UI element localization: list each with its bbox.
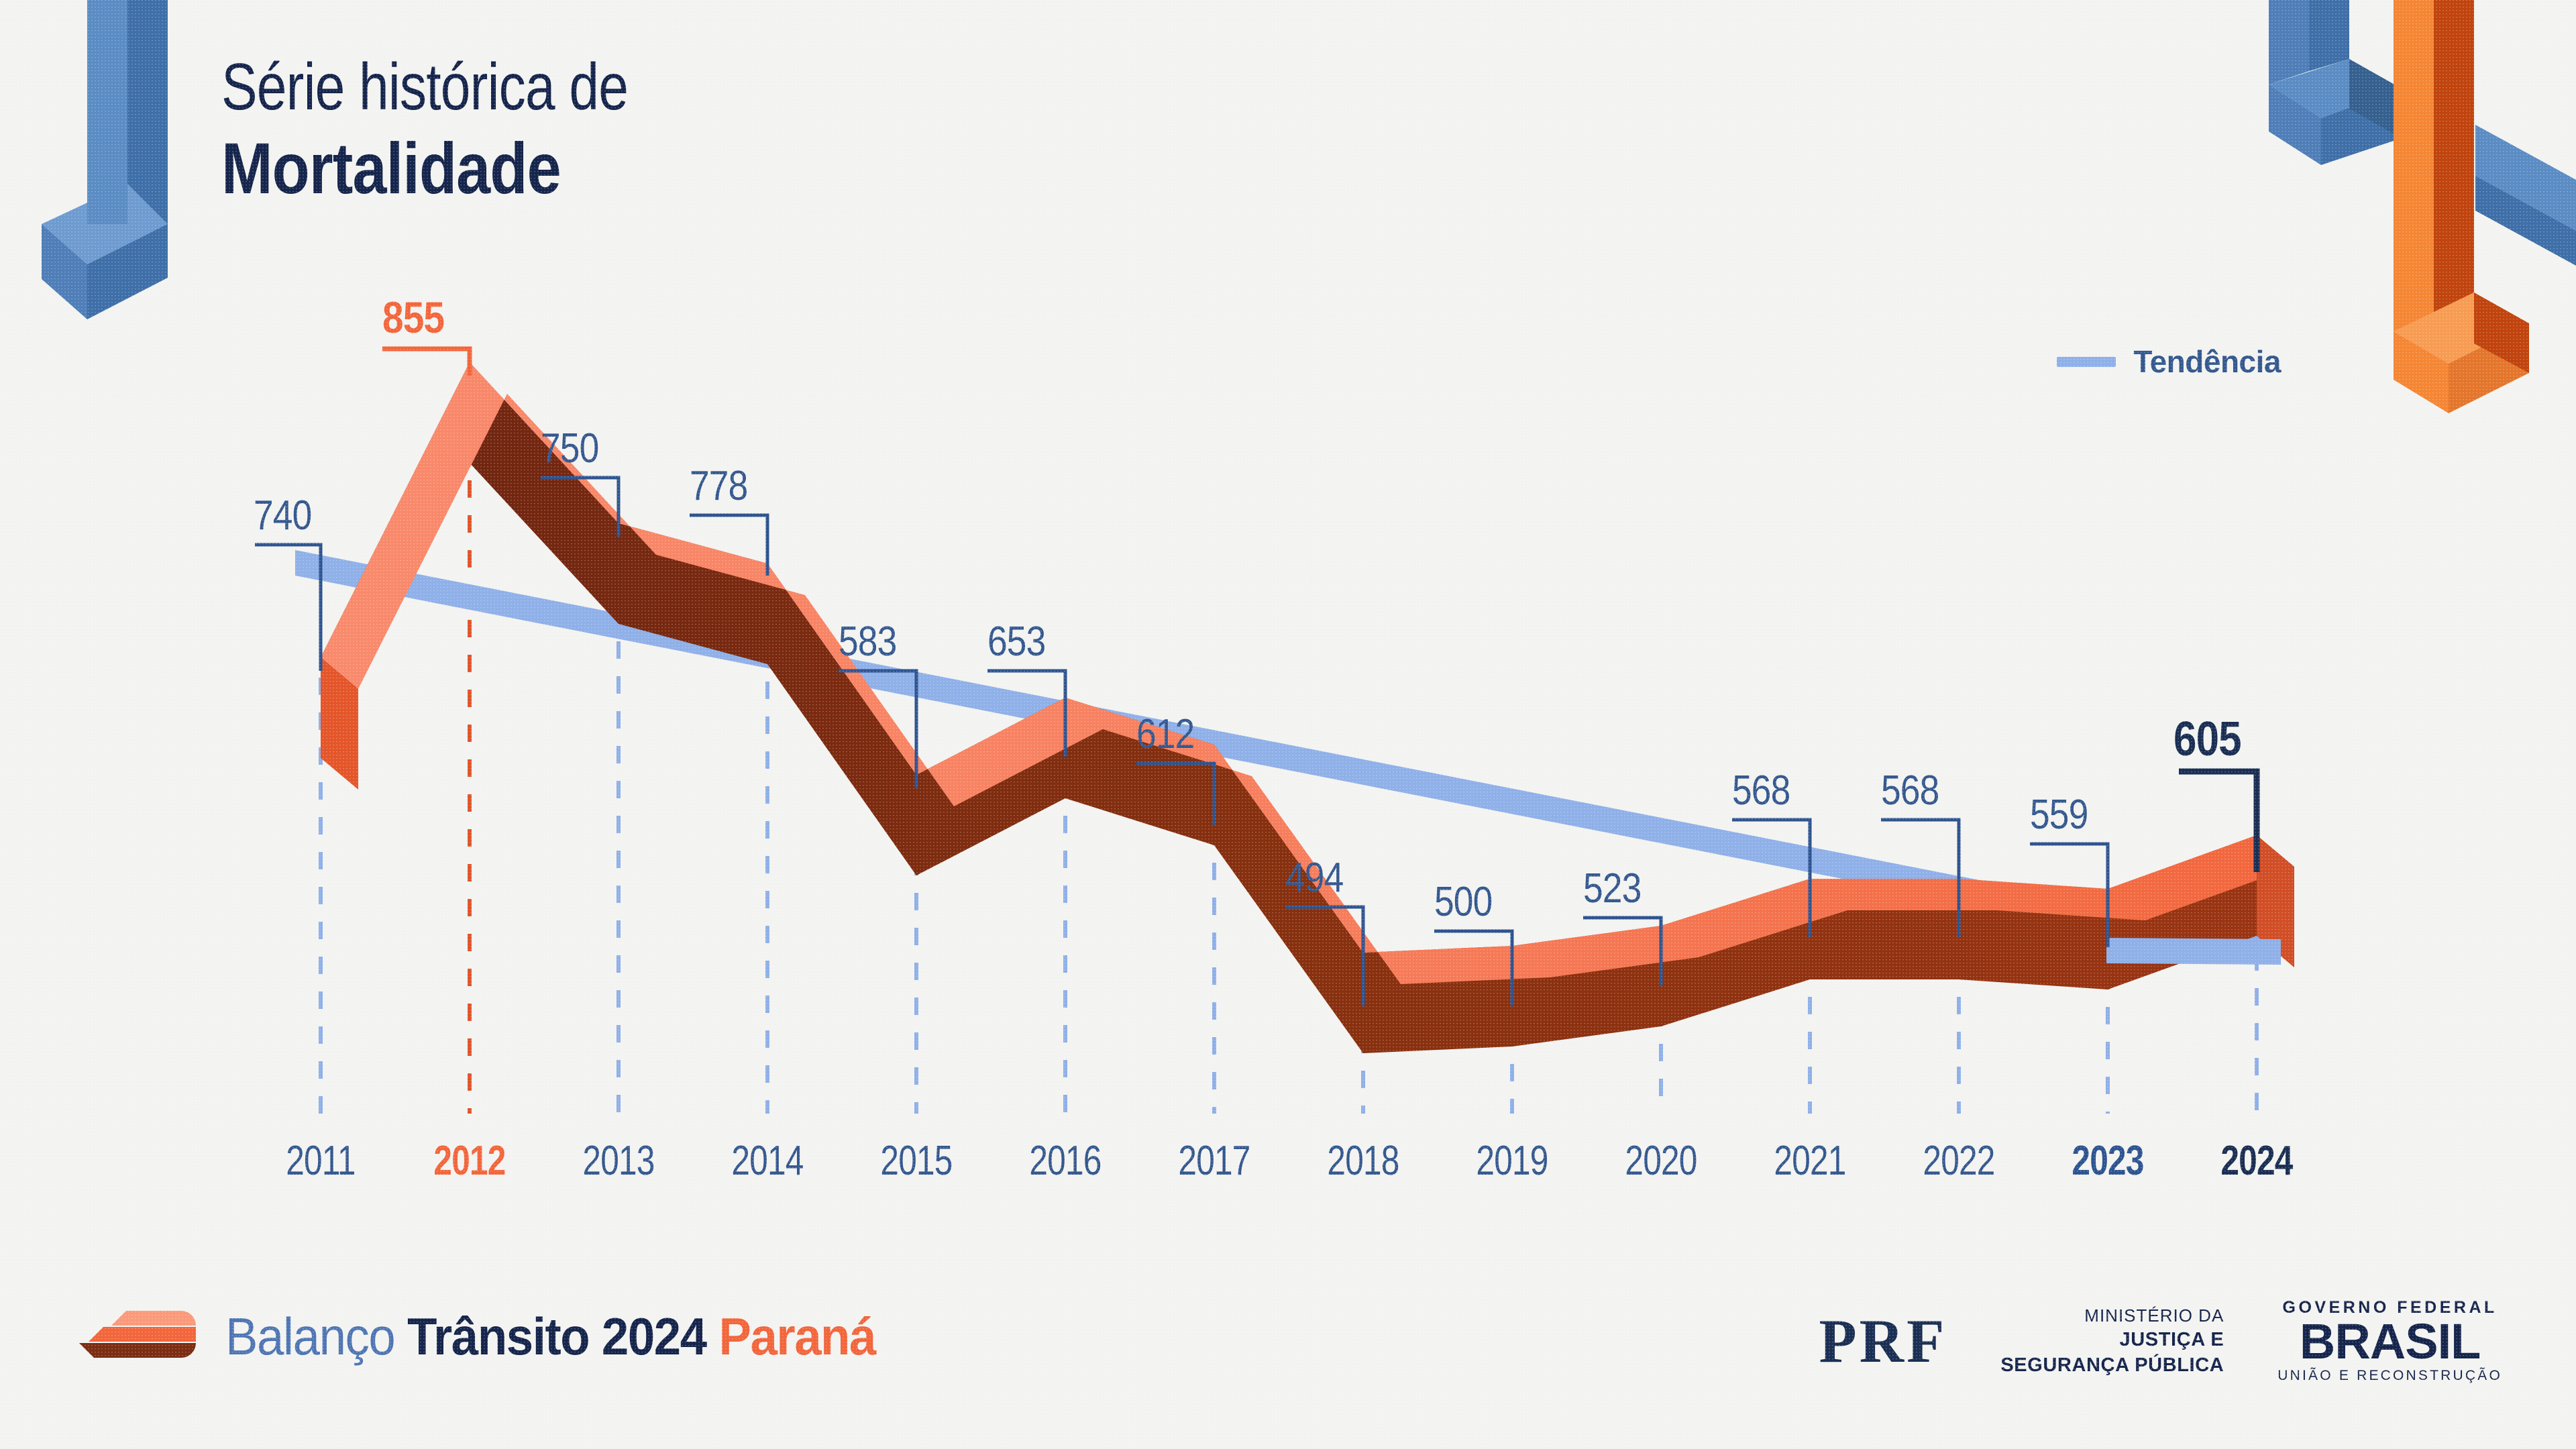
value-label-2015: 583 xyxy=(839,621,896,663)
value-label-2024: 605 xyxy=(2173,715,2241,763)
mortality-ribbon-side xyxy=(321,362,2257,1053)
x-label-2018: 2018 xyxy=(1309,1140,1417,1182)
trend-line-swatch xyxy=(2057,357,2116,367)
ministerio-line3: SEGURANÇA PÚBLICA xyxy=(2000,1352,2224,1378)
page-title-bold: Mortalidade xyxy=(221,130,643,206)
chart-gridlines xyxy=(321,376,2257,1114)
page-title-light: Série histórica de xyxy=(221,54,628,119)
x-label-2015: 2015 xyxy=(863,1140,970,1182)
ministerio-line2: JUSTIÇA E xyxy=(2000,1327,2224,1352)
x-label-2016: 2016 xyxy=(1012,1140,1119,1182)
legend-label-tendencia: Tendência xyxy=(2133,343,2281,380)
brand-lockup: Balanço Trânsito 2024 Paraná xyxy=(74,1305,924,1367)
x-label-2022: 2022 xyxy=(1905,1140,2012,1182)
value-label-2011: 740 xyxy=(254,495,311,537)
value-label-2022: 568 xyxy=(1881,770,1939,812)
governo-federal-logo: GOVERNO FEDERAL BRASIL UNIÃO E RECONSTRU… xyxy=(2277,1299,2502,1383)
x-label-2014: 2014 xyxy=(714,1140,821,1182)
governo-federal-bottom: UNIÃO E RECONSTRUÇÃO xyxy=(2277,1368,2502,1383)
ministerio-justica-logo: MINISTÉRIO DA JUSTIÇA E SEGURANÇA PÚBLIC… xyxy=(2000,1304,2224,1379)
value-label-2023: 559 xyxy=(2030,794,2088,836)
brand-transito: Trânsito 2024 xyxy=(407,1307,706,1366)
page-header: Série histórica de Mortalidade xyxy=(221,54,717,206)
prf-logo: PRF xyxy=(1819,1305,1947,1377)
brand-text: Balanço Trânsito 2024 Paraná xyxy=(225,1310,875,1362)
x-label-2021: 2021 xyxy=(1756,1140,1864,1182)
value-label-2019: 500 xyxy=(1434,881,1492,923)
x-label-2023: 2023 xyxy=(2054,1140,2161,1182)
value-label-2014: 778 xyxy=(690,466,747,507)
x-label-2013: 2013 xyxy=(565,1140,672,1182)
x-label-2011: 2011 xyxy=(267,1140,374,1182)
x-label-2012: 2012 xyxy=(416,1140,523,1182)
value-label-2016: 653 xyxy=(987,621,1045,663)
page-footer: Balanço Trânsito 2024 Paraná PRF MINISTÉ… xyxy=(0,1288,2576,1449)
brand-balanco: Balanço xyxy=(225,1307,394,1366)
brand-parana: Paraná xyxy=(718,1307,875,1366)
value-label-2021: 568 xyxy=(1732,770,1790,812)
x-label-2019: 2019 xyxy=(1458,1140,1566,1182)
value-label-2018: 494 xyxy=(1285,857,1343,899)
ministerio-line1: MINISTÉRIO DA xyxy=(2000,1304,2224,1327)
value-label-2012: 855 xyxy=(382,295,444,339)
balanco-ribbon-icon xyxy=(74,1305,201,1367)
x-label-2017: 2017 xyxy=(1161,1140,1268,1182)
chart-legend: Tendência xyxy=(2057,343,2281,380)
value-label-2013: 750 xyxy=(541,428,598,470)
x-label-2020: 2020 xyxy=(1607,1140,1715,1182)
footer-logos: PRF MINISTÉRIO DA JUSTIÇA E SEGURANÇA PÚ… xyxy=(1819,1299,2502,1383)
value-label-2020: 523 xyxy=(1583,868,1641,910)
governo-federal-brasil: BRASIL xyxy=(2277,1318,2502,1366)
value-label-2017: 612 xyxy=(1136,714,1194,755)
x-label-2024: 2024 xyxy=(2203,1140,2310,1182)
trend-line-tail xyxy=(2106,938,2281,965)
